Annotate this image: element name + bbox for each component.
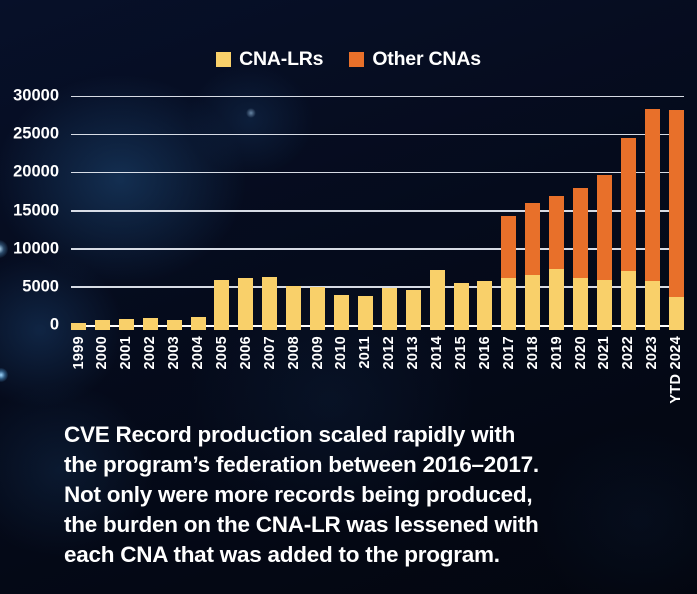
bar-segment-cna-lrs [549, 269, 564, 330]
x-tick-label-2014: 2014 [429, 336, 445, 369]
caption-text: CVE Record production scaled rapidly wit… [64, 420, 664, 570]
infographic-panel: CNA-LRs Other CNAs 050001000015000200002… [0, 0, 697, 594]
caption-line-4: the burden on the CNA-LR was lessened wi… [64, 510, 664, 540]
x-tick-label-2001: 2001 [118, 336, 134, 369]
x-tick-label-2021: 2021 [596, 336, 612, 369]
x-tick-label-2002: 2002 [142, 336, 158, 369]
chart-legend: CNA-LRs Other CNAs [0, 48, 697, 71]
bar-segment-cna-lrs [286, 286, 301, 330]
bar-segment-cna-lrs [621, 271, 636, 330]
bar-segment-cna-lrs [597, 280, 612, 330]
x-tick-column: 2002 [143, 334, 158, 414]
x-tick-column: 2008 [286, 334, 301, 414]
bar-column-2023 [645, 95, 660, 330]
decorative-glow-left-upper [0, 240, 8, 258]
bar-segment-other-cnas [549, 196, 564, 269]
bar-column-2021 [597, 95, 612, 330]
legend-label-other-cnas: Other CNAs [372, 48, 481, 71]
bar-column-2002 [143, 95, 158, 330]
x-tick-column: 2019 [549, 334, 564, 414]
bar-column-2001 [119, 95, 134, 330]
x-tick-column: 2003 [167, 334, 182, 414]
bar-column-2003 [167, 95, 182, 330]
bar-column-2015 [454, 95, 469, 330]
x-tick-label-2000: 2000 [94, 336, 110, 369]
x-tick-label-2016: 2016 [477, 336, 493, 369]
bar-column-1999 [71, 95, 86, 330]
x-tick-label-2010: 2010 [333, 336, 349, 369]
x-tick-column: 2023 [645, 334, 660, 414]
x-tick-label-2017: 2017 [501, 336, 517, 369]
x-tick-label-2020: 2020 [573, 336, 589, 369]
bar-column-2017 [501, 95, 516, 330]
bar-column-2018 [525, 95, 540, 330]
bar-segment-cna-lrs [95, 320, 110, 330]
x-tick-column: 2018 [525, 334, 540, 414]
bar-segment-cna-lrs [645, 281, 660, 330]
x-axis-tick-labels: 1999200020012002200320042005200620072008… [71, 334, 684, 414]
x-tick-label-2011: 2011 [357, 336, 373, 369]
bar-segment-cna-lrs [71, 323, 86, 330]
bar-segment-cna-lrs [214, 280, 229, 330]
bar-segment-cna-lrs [310, 287, 325, 331]
bar-segment-other-cnas [573, 188, 588, 278]
bar-segment-cna-lrs [477, 281, 492, 330]
x-tick-label-2005: 2005 [214, 336, 230, 369]
bar-column-2022 [621, 95, 636, 330]
bar-column-2014 [430, 95, 445, 330]
bar-segment-cna-lrs [358, 296, 373, 330]
caption-line-2: the program’s federation between 2016–20… [64, 450, 664, 480]
bar-column-2007 [262, 95, 277, 330]
bar-column-2006 [238, 95, 253, 330]
x-tick-label-2023: 2023 [644, 336, 660, 369]
x-tick-label-2006: 2006 [238, 336, 254, 369]
x-tick-column: 2006 [238, 334, 253, 414]
bar-segment-other-cnas [501, 216, 516, 278]
x-tick-column: 2009 [310, 334, 325, 414]
bar-column-2012 [382, 95, 397, 330]
bar-segment-cna-lrs [430, 270, 445, 330]
x-tick-column: 1999 [71, 334, 86, 414]
legend-item-cna-lrs: CNA-LRs [216, 48, 323, 71]
legend-swatch-cna-lrs [216, 52, 231, 67]
bar-segment-cna-lrs [167, 320, 182, 330]
decorative-glow-left [0, 368, 8, 382]
x-tick-label-2022: 2022 [620, 336, 636, 369]
x-tick-label-2003: 2003 [166, 336, 182, 369]
bar-segment-cna-lrs [191, 317, 206, 330]
bar-column-2016 [477, 95, 492, 330]
x-tick-column: 2022 [621, 334, 636, 414]
bar-column-2009 [310, 95, 325, 330]
x-tick-label-1999: 1999 [71, 336, 87, 369]
bar-segment-cna-lrs [143, 318, 158, 330]
bar-segment-cna-lrs [454, 283, 469, 330]
x-tick-label-2019: 2019 [549, 336, 565, 369]
bar-column-2004 [191, 95, 206, 330]
x-tick-column: 2020 [573, 334, 588, 414]
y-tick-label-5000: 5000 [22, 277, 59, 296]
x-tick-label-2007: 2007 [262, 336, 278, 369]
x-tick-label-2008: 2008 [286, 336, 302, 369]
y-tick-label-30000: 30000 [13, 87, 59, 106]
bar-segment-cna-lrs [238, 278, 253, 330]
x-tick-column: 2000 [95, 334, 110, 414]
x-tick-column: 2007 [262, 334, 277, 414]
x-tick-column: 2013 [406, 334, 421, 414]
y-tick-label-25000: 25000 [13, 125, 59, 144]
x-tick-column: YTD 2024 [669, 334, 684, 414]
bar-segment-cna-lrs [334, 295, 349, 330]
bar-column-2020 [573, 95, 588, 330]
bar-segment-other-cnas [525, 203, 540, 276]
y-tick-label-10000: 10000 [13, 239, 59, 258]
y-tick-label-0: 0 [50, 316, 59, 335]
bar-segment-other-cnas [645, 109, 660, 281]
y-tick-label-15000: 15000 [13, 201, 59, 220]
bar-segment-cna-lrs [406, 290, 421, 330]
x-tick-column: 2017 [501, 334, 516, 414]
x-tick-column: 2021 [597, 334, 612, 414]
x-tick-column: 2014 [430, 334, 445, 414]
bar-segment-cna-lrs [525, 275, 540, 330]
x-tick-label-2012: 2012 [381, 336, 397, 369]
legend-swatch-other-cnas [349, 52, 364, 67]
x-tick-column: 2004 [191, 334, 206, 414]
x-tick-label-2004: 2004 [190, 336, 206, 369]
bar-column-2011 [358, 95, 373, 330]
bar-column-2000 [95, 95, 110, 330]
legend-item-other-cnas: Other CNAs [349, 48, 481, 71]
bar-column-2008 [286, 95, 301, 330]
bar-segment-other-cnas [669, 110, 684, 297]
bar-chart-plot-area: 050001000015000200002500030000 [71, 90, 684, 330]
x-tick-column: 2010 [334, 334, 349, 414]
x-tick-label-2015: 2015 [453, 336, 469, 369]
caption-line-3: Not only were more records being produce… [64, 480, 664, 510]
x-tick-label-ytd-2024: YTD 2024 [668, 336, 684, 404]
x-tick-column: 2015 [454, 334, 469, 414]
caption-line-5: each CNA that was added to the program. [64, 540, 664, 570]
bar-segment-cna-lrs [262, 277, 277, 330]
bar-segment-cna-lrs [119, 319, 134, 330]
x-tick-column: 2012 [382, 334, 397, 414]
x-tick-label-2018: 2018 [525, 336, 541, 369]
chart-bars [71, 95, 684, 330]
bar-column-ytd-2024 [669, 95, 684, 330]
caption-line-1: CVE Record production scaled rapidly wit… [64, 420, 664, 450]
bar-column-2019 [549, 95, 564, 330]
bar-segment-other-cnas [621, 138, 636, 271]
bar-segment-cna-lrs [573, 278, 588, 330]
legend-label-cna-lrs: CNA-LRs [239, 48, 323, 71]
x-tick-column: 2005 [214, 334, 229, 414]
x-tick-label-2013: 2013 [405, 336, 421, 369]
x-tick-column: 2001 [119, 334, 134, 414]
x-tick-column: 2011 [358, 334, 373, 414]
x-tick-label-2009: 2009 [310, 336, 326, 369]
bar-segment-cna-lrs [501, 278, 516, 330]
bar-segment-other-cnas [597, 175, 612, 280]
y-tick-label-20000: 20000 [13, 163, 59, 182]
bar-segment-cna-lrs [382, 288, 397, 330]
bar-column-2005 [214, 95, 229, 330]
bar-column-2013 [406, 95, 421, 330]
bar-segment-cna-lrs [669, 297, 684, 330]
bar-column-2010 [334, 95, 349, 330]
x-tick-column: 2016 [477, 334, 492, 414]
